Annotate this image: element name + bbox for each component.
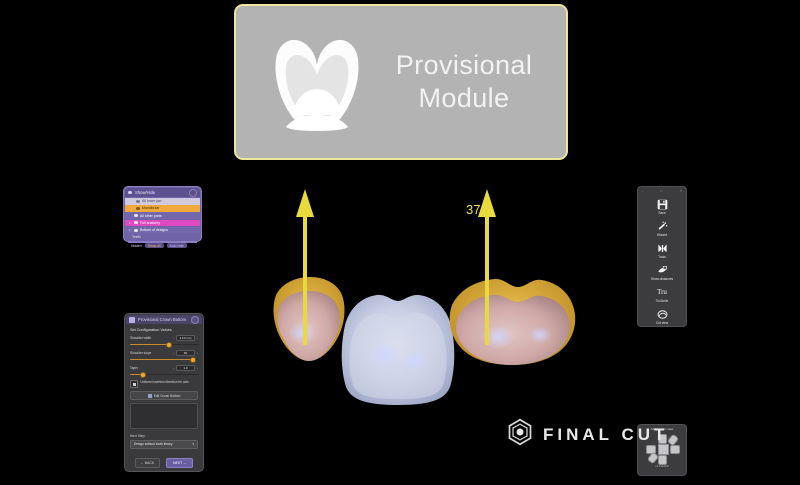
show-hide-panel-titlebar[interactable]: Show/Hide bbox=[125, 188, 200, 197]
tooth-left-premolar[interactable] bbox=[273, 277, 344, 361]
banner-title-line2: Module bbox=[376, 82, 552, 115]
save-icon bbox=[655, 198, 669, 210]
slider-knob[interactable] bbox=[166, 342, 172, 348]
list-item[interactable]: Mandibular bbox=[125, 205, 200, 212]
slider-fill bbox=[130, 344, 167, 345]
param-row-shoulder-slope: Shoulder slope ‹ 30 › bbox=[130, 350, 198, 356]
tooth-right-molar[interactable] bbox=[450, 279, 576, 365]
watermark-text: FINAL CUT bbox=[543, 425, 668, 445]
edit-crown-bottom-button[interactable]: Edit Crown Bottom bbox=[130, 391, 198, 400]
eye-icon[interactable] bbox=[136, 207, 140, 210]
tooth-center-crown[interactable] bbox=[342, 295, 455, 405]
increment-icon[interactable]: › bbox=[197, 351, 198, 355]
list-item-index: 1 bbox=[129, 228, 132, 232]
distance-icon bbox=[655, 264, 669, 276]
minimize-icon[interactable]: - bbox=[642, 189, 643, 193]
param-row-taper: Taper ‹ 1.0 › bbox=[130, 365, 198, 371]
back-button[interactable]: ← BACK bbox=[135, 458, 161, 468]
list-item-label: All other parts bbox=[140, 214, 162, 218]
toolbar-item-label: Wizard bbox=[657, 233, 667, 237]
show-hide-panel-title: Show/Hide bbox=[135, 190, 186, 195]
uniform-insertion-checkbox-row[interactable]: Uniform insertion direction for axis bbox=[130, 380, 198, 388]
tooth-number-label: 37 bbox=[466, 202, 480, 217]
next-step-label: Next Step: bbox=[130, 434, 198, 438]
teeth-group-row[interactable]: Teeth bbox=[125, 234, 200, 241]
next-step-value: Design without tooth library bbox=[134, 442, 192, 446]
hidden-label: Hidden bbox=[131, 244, 142, 248]
toolbar-item-save[interactable]: Save bbox=[638, 198, 686, 215]
crown-panel-footer: ← BACK NEXT → bbox=[125, 458, 203, 468]
increment-icon[interactable]: › bbox=[197, 336, 198, 340]
trusmile-icon: Tru bbox=[655, 286, 669, 298]
toolbar-item-wizard[interactable]: Wizard bbox=[638, 220, 686, 237]
final-cut-watermark: FINAL CUT bbox=[506, 418, 668, 451]
checkbox-icon[interactable] bbox=[130, 380, 138, 388]
toolbar-item-tools[interactable]: Tools bbox=[638, 242, 686, 259]
increment-icon[interactable]: › bbox=[197, 366, 198, 370]
crown-panel-titlebar[interactable]: Provisional Crown Bottom bbox=[126, 315, 202, 324]
toolbar-item-label: Save bbox=[658, 211, 665, 215]
toolbar-item-label: Show distances bbox=[651, 277, 673, 281]
list-item-label: All lower jaw bbox=[142, 199, 161, 203]
cut-view-icon bbox=[655, 308, 669, 320]
crown-panel-title: Provisional Crown Bottom bbox=[138, 317, 188, 322]
auto-hide-button[interactable]: Auto hide bbox=[167, 243, 187, 248]
uniform-insertion-label: Uniform insertion direction for axis bbox=[141, 380, 189, 384]
close-icon[interactable]: × bbox=[680, 189, 682, 193]
banner-title: Provisional Module bbox=[376, 49, 566, 115]
toolbar-item-label: Cut view bbox=[656, 321, 668, 325]
decrement-icon[interactable]: ‹ bbox=[173, 336, 174, 340]
param-value[interactable]: 1.0 bbox=[176, 365, 195, 371]
slider-fill bbox=[130, 359, 193, 360]
list-item-label: Bottom of designs bbox=[140, 228, 168, 232]
eye-icon[interactable] bbox=[134, 214, 138, 217]
toolbar-item-label: Tools bbox=[658, 255, 665, 259]
eye-icon[interactable] bbox=[134, 221, 138, 224]
close-icon[interactable] bbox=[191, 316, 199, 324]
hexagon-logo-icon bbox=[506, 418, 534, 451]
wand-icon bbox=[655, 220, 669, 232]
param-label: Taper bbox=[130, 366, 171, 370]
eye-icon[interactable] bbox=[136, 200, 140, 203]
list-item-label: Mandibular bbox=[142, 206, 159, 210]
tools-icon bbox=[655, 242, 669, 254]
tooth-icon bbox=[258, 23, 376, 141]
next-step-dropdown[interactable]: Design without tooth library ▾ bbox=[130, 440, 198, 449]
nav-cube-bottom[interactable] bbox=[658, 455, 667, 465]
show-hide-footer: Hidden Show all Auto hide bbox=[125, 243, 200, 248]
divider bbox=[128, 242, 197, 243]
slider-knob[interactable] bbox=[190, 357, 196, 363]
list-item[interactable]: 1 Bottom of designs bbox=[125, 227, 200, 234]
decrement-icon[interactable]: ‹ bbox=[173, 351, 174, 355]
toolbar-window-controls: - □ × bbox=[638, 187, 686, 193]
list-item[interactable]: All other parts bbox=[125, 212, 200, 219]
eye-icon bbox=[128, 191, 132, 194]
next-button[interactable]: NEXT → bbox=[166, 458, 193, 468]
provisional-module-banner: Provisional Module bbox=[234, 4, 568, 160]
crown-icon bbox=[129, 317, 135, 323]
chevron-down-icon: ▾ bbox=[192, 442, 194, 446]
show-hide-panel[interactable]: Show/Hide All lower jaw Mandibular All o… bbox=[123, 186, 202, 242]
slider-taper[interactable] bbox=[130, 372, 198, 377]
show-all-button[interactable]: Show all bbox=[145, 243, 164, 248]
param-value[interactable]: 1.10 mm bbox=[176, 335, 195, 341]
toolbar-item-trusmile[interactable]: Tru TruSmile bbox=[638, 286, 686, 303]
slider-shoulder-slope[interactable] bbox=[130, 357, 198, 362]
nav-cube-footer: v1.0 ALIGN bbox=[655, 465, 668, 468]
param-label: Shoulder slope bbox=[130, 351, 171, 355]
edit-crown-bottom-label: Edit Crown Bottom bbox=[154, 394, 181, 398]
list-item-label: Full anatomy bbox=[140, 221, 160, 225]
app-viewport: 37 Provisional Module Show/Hide All lo bbox=[0, 0, 800, 480]
provisional-crown-bottom-panel[interactable]: Provisional Crown Bottom Set Configurati… bbox=[124, 313, 204, 472]
show-hide-row-list: All lower jaw Mandibular All other parts… bbox=[125, 198, 200, 233]
nav-cube-right[interactable] bbox=[670, 445, 680, 454]
list-item[interactable]: All lower jaw bbox=[125, 198, 200, 205]
toolbar-item-label: TruSmile bbox=[656, 299, 669, 303]
decrement-icon[interactable]: ‹ bbox=[173, 366, 174, 370]
list-item-index: 1 bbox=[129, 221, 132, 225]
preview-area bbox=[130, 403, 198, 429]
banner-title-line1: Provisional bbox=[376, 49, 552, 82]
param-row-shoulder-width: Shoulder width ‹ 1.10 mm › bbox=[130, 335, 198, 341]
toolbar-item-cut-view[interactable]: Cut view bbox=[638, 308, 686, 325]
pin-icon[interactable] bbox=[189, 189, 197, 197]
param-value[interactable]: 30 bbox=[176, 350, 195, 356]
param-label: Shoulder width bbox=[130, 336, 171, 340]
config-heading: Set Configuration Values bbox=[130, 328, 198, 332]
eye-icon[interactable] bbox=[134, 229, 138, 232]
toolbar-item-show-distances[interactable]: Show distances bbox=[638, 264, 686, 281]
right-toolbar[interactable]: - □ × Save Wizard Tools Show bbox=[637, 186, 687, 327]
slider-shoulder-width[interactable] bbox=[130, 342, 198, 347]
maximize-icon[interactable]: □ bbox=[660, 189, 662, 193]
crown-panel-body: Set Configuration Values Shoulder width … bbox=[126, 324, 202, 452]
edit-icon bbox=[148, 394, 152, 398]
slider-knob[interactable] bbox=[140, 372, 146, 378]
teeth-group-label: Teeth bbox=[132, 235, 141, 239]
list-item[interactable]: 1 Full anatomy bbox=[125, 220, 200, 227]
